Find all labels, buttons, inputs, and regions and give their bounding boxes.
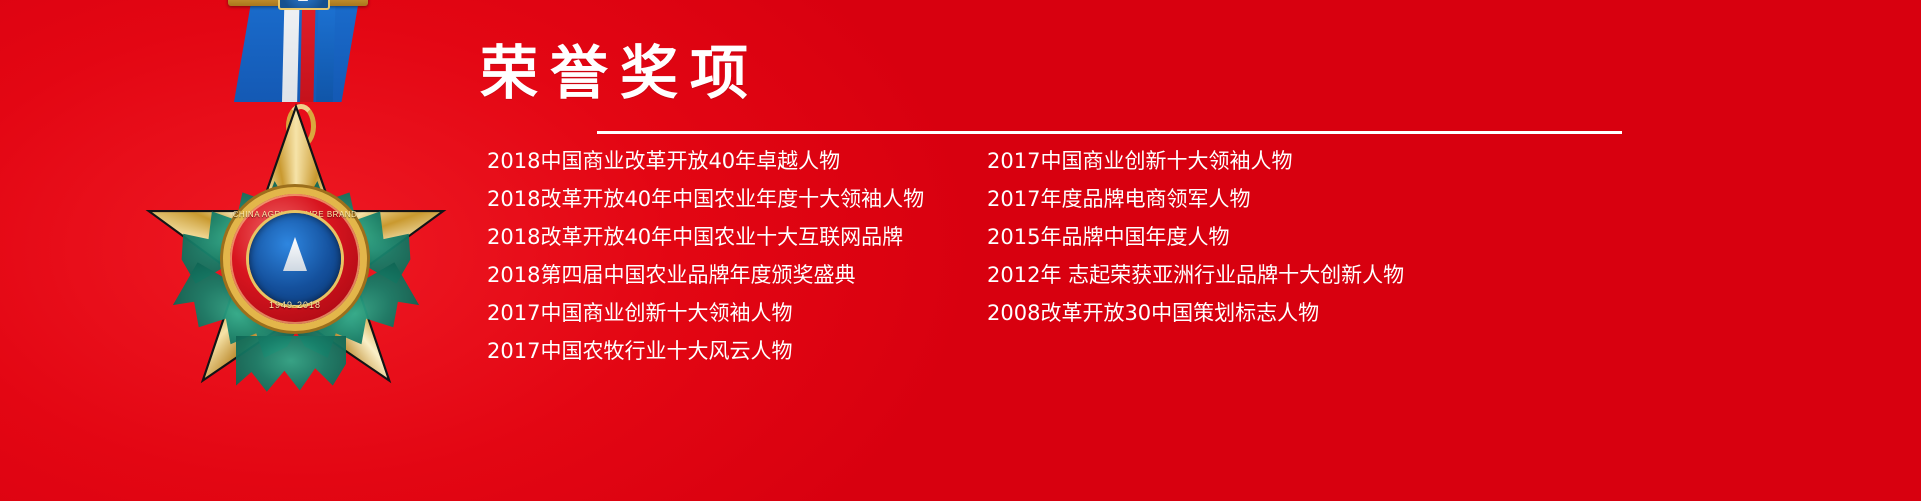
awards-columns: 2018中国商业改革开放40年卓越人物 2018改革开放40年中国农业年度十大领… [487,142,1667,370]
list-item: 2015年品牌中国年度人物 [987,218,1647,256]
list-item: 2017年度品牌电商领军人物 [987,180,1647,218]
medal-ribbon-icon [238,0,358,114]
list-item: 2018中国商业改革开放40年卓越人物 [487,142,987,180]
awards-left-column: 2018中国商业改革开放40年卓越人物 2018改革开放40年中国农业年度十大领… [487,142,987,370]
list-item: 2017中国商业创新十大领袖人物 [987,142,1647,180]
list-item: 2012年 志起荣获亚洲行业品牌十大创新人物 [987,256,1647,294]
title-divider [597,131,1622,134]
honor-awards-banner: CHINA AGRICULTURE BRAND 1949-2018 荣誉奖项 2… [0,0,1921,501]
list-item: 2017中国商业创新十大领袖人物 [487,294,987,332]
awards-panel: 荣誉奖项 2018中国商业改革开放40年卓越人物 2018改革开放40年中国农业… [480,0,1680,501]
medal-star-icon: CHINA AGRICULTURE BRAND 1949-2018 [146,110,446,406]
list-item: 2017中国农牧行业十大风云人物 [487,332,987,370]
ribbon-emblem-icon [278,0,330,10]
list-item: 2008改革开放30中国策划标志人物 [987,294,1647,332]
page-title: 荣誉奖项 [480,44,760,102]
list-item: 2018改革开放40年中国农业十大互联网品牌 [487,218,987,256]
laurel-leaf-icon [236,336,346,398]
honor-medal: CHINA AGRICULTURE BRAND 1949-2018 [146,0,446,407]
medal-inner-badge [249,213,341,305]
ribbon-stripe-blue [316,0,336,102]
list-item: 2018改革开放40年中国农业年度十大领袖人物 [487,180,987,218]
ribbon-stripe-red [300,0,316,102]
medal-center-year: 1949-2018 [230,300,360,310]
awards-right-column: 2017中国商业创新十大领袖人物 2017年度品牌电商领军人物 2015年品牌中… [987,142,1647,370]
medal-center-disc: CHINA AGRICULTURE BRAND 1949-2018 [230,194,360,324]
list-item: 2018第四届中国农业品牌年度颁奖盛典 [487,256,987,294]
ribbon-stripe-white [282,0,300,102]
